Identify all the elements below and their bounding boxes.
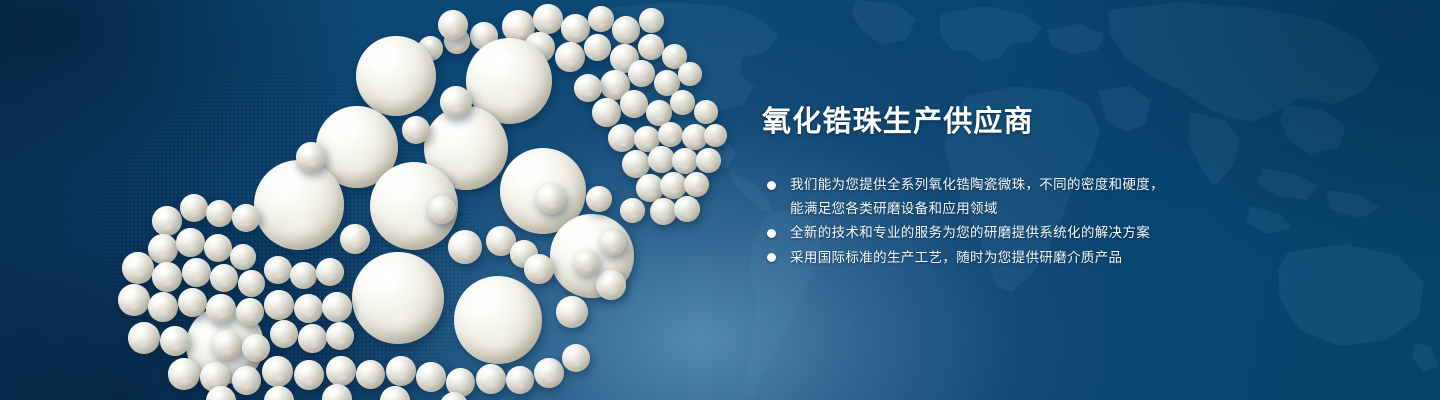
list-item-label: 我们能为您提供全系列氧化锆陶瓷微珠，不同的密度和硬度， 能满足您各类研磨设备和应… [790,173,1232,220]
list-item-line1: 采用国际标准的生产工艺，随时为您提供研磨介质产品 [790,250,1122,265]
list-item-line2: 能满足您各类研磨设备和应用领域 [790,197,1232,221]
list-item-line1: 我们能为您提供全系列氧化锆陶瓷微珠，不同的密度和硬度， [790,177,1164,192]
zirconia-beads-photo [0,0,740,400]
banner-copy: 氧化锆珠生产供应商 我们能为您提供全系列氧化锆陶瓷微珠，不同的密度和硬度， 能满… [762,104,1232,269]
product-hero-banner: 氧化锆珠生产供应商 我们能为您提供全系列氧化锆陶瓷微珠，不同的密度和硬度， 能满… [0,0,1440,400]
bullet-dot-icon [767,253,776,262]
feature-list: 我们能为您提供全系列氧化锆陶瓷微珠，不同的密度和硬度， 能满足您各类研磨设备和应… [764,173,1232,269]
bullet-dot-icon [767,181,776,190]
list-item: 全新的技术和专业的服务为您的研磨提供系统化的解决方案 [764,221,1232,245]
list-item-label: 采用国际标准的生产工艺，随时为您提供研磨介质产品 [790,246,1232,270]
bullet-dot-icon [767,229,776,238]
list-item: 我们能为您提供全系列氧化锆陶瓷微珠，不同的密度和硬度， 能满足您各类研磨设备和应… [764,173,1232,220]
page-title: 氧化锆珠生产供应商 [762,104,1232,141]
list-item-line1: 全新的技术和专业的服务为您的研磨提供系统化的解决方案 [790,225,1150,240]
list-item-label: 全新的技术和专业的服务为您的研磨提供系统化的解决方案 [790,221,1232,245]
list-item: 采用国际标准的生产工艺，随时为您提供研磨介质产品 [764,246,1232,270]
